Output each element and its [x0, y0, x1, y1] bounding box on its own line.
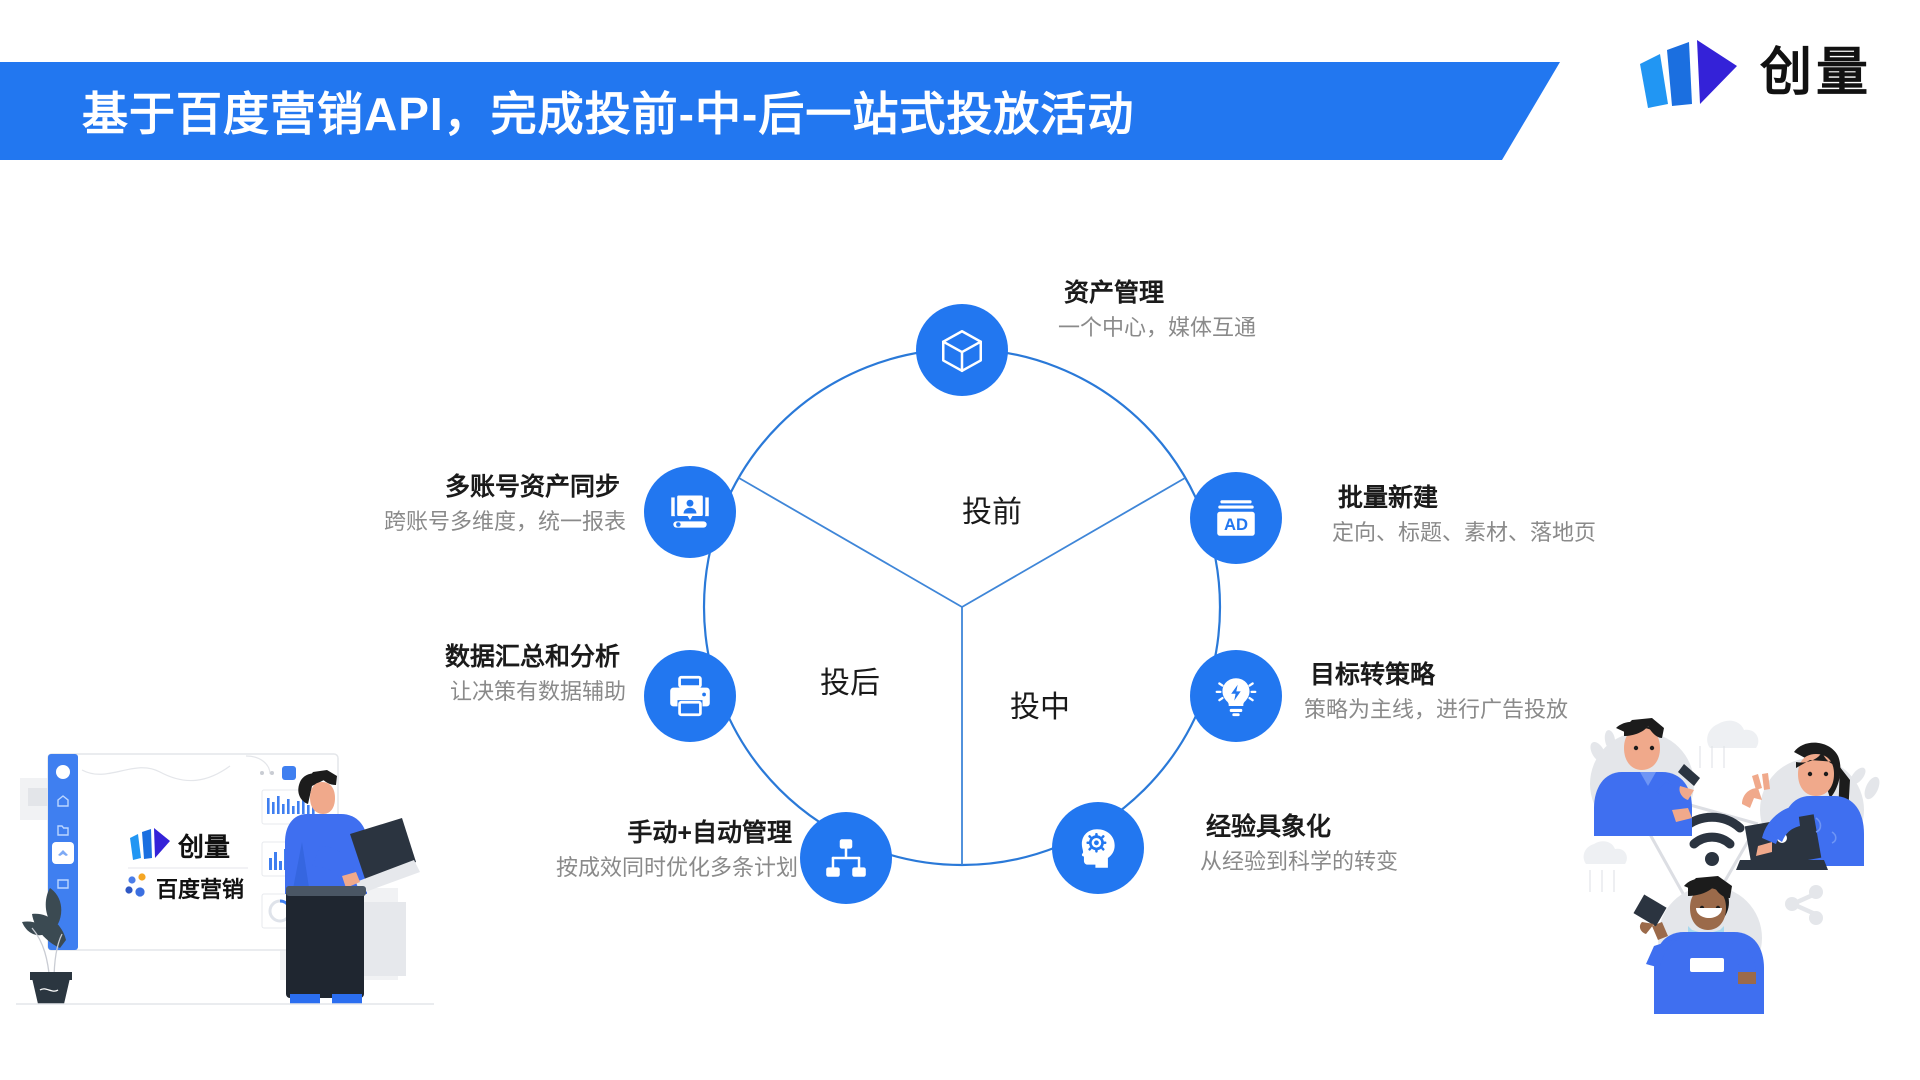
callout-experience: 经验具象化 从经验到科学的转变 [1200, 812, 1398, 876]
svg-text:AD: AD [1224, 515, 1248, 534]
callout-title: 经验具象化 [1200, 812, 1398, 843]
callout-subtitle: 策略为主线，进行广告投放 [1304, 695, 1568, 724]
chuangliang-fan-logo-icon [1634, 34, 1746, 112]
node-multi-account[interactable] [644, 466, 736, 558]
callout-batch-create: 批量新建 定向、标题、素材、落地页 [1332, 483, 1596, 547]
callout-goal-strategy: 目标转策略 策略为主线，进行广告投放 [1304, 660, 1568, 724]
callout-title: 资产管理 [1058, 278, 1256, 309]
callout-subtitle: 一个中心，媒体互通 [1058, 313, 1256, 342]
head-gear-icon [1073, 823, 1123, 873]
callout-subtitle: 跨账号多维度，统一报表 [106, 507, 626, 536]
header-banner: 基于百度营销API，完成投前-中-后一站式投放活动 [0, 62, 1560, 160]
svg-text:百度营销: 百度营销 [156, 877, 244, 902]
node-asset-management[interactable] [916, 304, 1008, 396]
brand-logo: 创量 [1634, 34, 1872, 112]
node-data-analysis[interactable] [644, 650, 736, 742]
callout-title: 批量新建 [1332, 483, 1596, 514]
callout-multi-account: 多账号资产同步 跨账号多维度，统一报表 [106, 472, 626, 536]
ad-card-icon: AD [1211, 493, 1261, 543]
callout-asset-management: 资产管理 一个中心，媒体互通 [1058, 278, 1256, 342]
callout-title: 数据汇总和分析 [106, 642, 626, 673]
callout-subtitle: 定向、标题、素材、落地页 [1332, 518, 1596, 547]
callout-subtitle: 从经验到科学的转变 [1200, 847, 1398, 876]
svg-text:创量: 创量 [177, 832, 230, 862]
node-batch-create[interactable]: AD [1190, 472, 1282, 564]
page-title: 基于百度营销API，完成投前-中-后一站式投放活动 [82, 78, 1134, 144]
sector-label-pre: 投前 [962, 487, 1022, 531]
node-experience[interactable] [1052, 802, 1144, 894]
sector-label-mid: 投中 [1010, 682, 1070, 726]
printer-icon [665, 671, 715, 721]
cube-icon [937, 325, 987, 375]
callout-data-analysis: 数据汇总和分析 让决策有数据辅助 [106, 642, 626, 706]
people-network-illustration [1580, 700, 1920, 1030]
dashboard-person-illustration: 创量 百度营销 [10, 742, 440, 1012]
node-manual-auto[interactable] [800, 812, 892, 904]
multi-account-card-icon [665, 487, 715, 537]
lightbulb-bolt-icon [1211, 671, 1261, 721]
node-goal-strategy[interactable] [1190, 650, 1282, 742]
callout-title: 多账号资产同步 [106, 472, 626, 503]
brand-name: 创量 [1760, 47, 1872, 99]
sitemap-icon [821, 833, 871, 883]
callout-subtitle: 让决策有数据辅助 [106, 677, 626, 706]
slide-root: 基于百度营销API，完成投前-中-后一站式投放活动 创量 投前 投中 投后 [0, 0, 1920, 1080]
sector-label-post: 投后 [820, 658, 880, 702]
callout-title: 目标转策略 [1304, 660, 1568, 691]
